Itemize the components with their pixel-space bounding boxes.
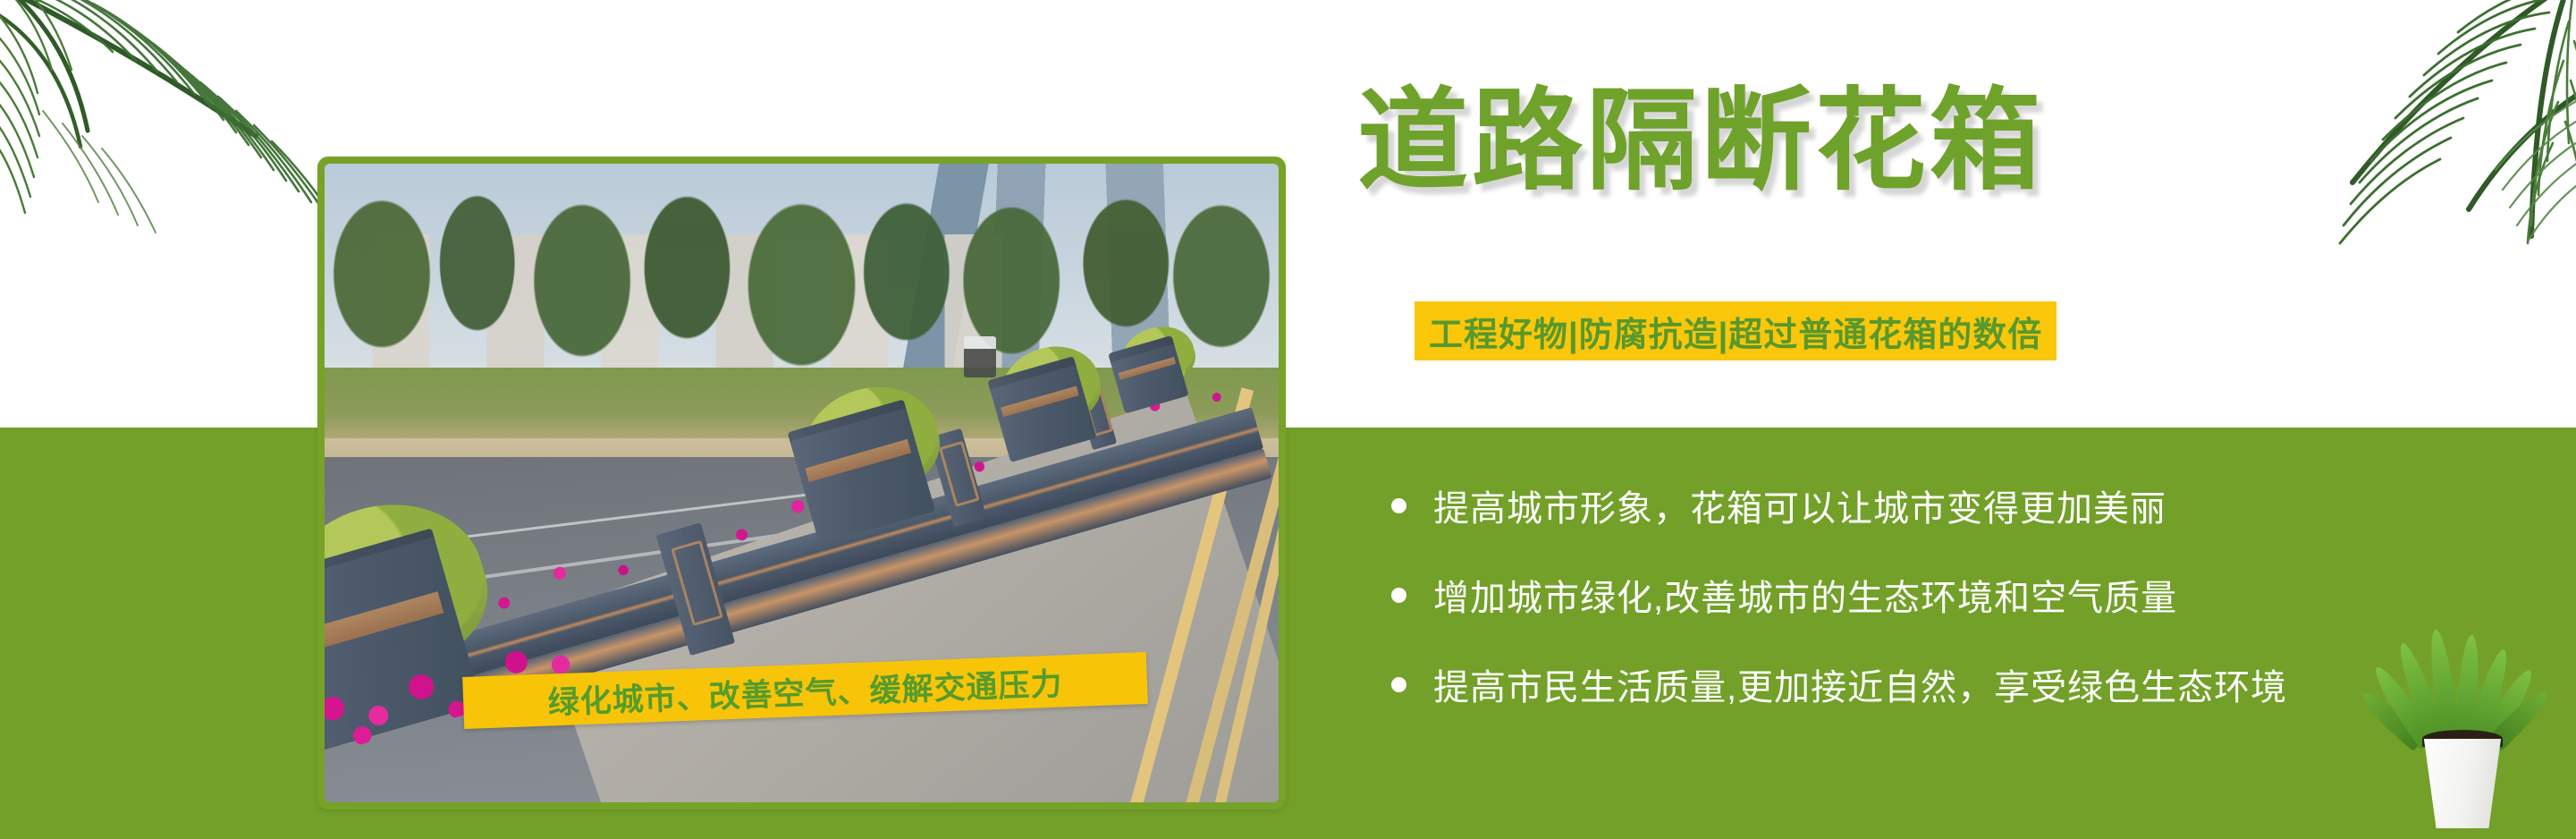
product-photo: 绿化城市、改善空气、缓解交通压力 bbox=[325, 164, 1279, 802]
list-item: 提高城市形象，花箱可以让城市变得更加美丽 bbox=[1391, 461, 2554, 550]
benefit-list: 提高城市形象，花箱可以让城市变得更加美丽 增加城市绿化,改善城市的生态环境和空气… bbox=[1391, 461, 2554, 729]
palm-leaf-icon bbox=[2174, 0, 2576, 245]
benefit-text: 提高市民生活质量,更加接近自然，享受绿色生态环境 bbox=[1433, 658, 2287, 710]
page-title: 道路隔断花箱 bbox=[1357, 82, 2044, 202]
bullet-dot-icon bbox=[1391, 588, 1406, 603]
promo-banner: 绿化城市、改善空气、缓解交通压力 道路隔断花箱 工程好物|防腐抗造|超过普通花箱… bbox=[0, 0, 2576, 839]
benefit-text: 提高城市形象，花箱可以让城市变得更加美丽 bbox=[1433, 479, 2166, 531]
list-item: 增加城市绿化,改善城市的生态环境和空气质量 bbox=[1391, 550, 2554, 640]
feature-badge-text: 工程好物|防腐抗造|超过普通花箱的数倍 bbox=[1429, 307, 2042, 356]
bullet-dot-icon bbox=[1391, 677, 1406, 692]
feature-badge: 工程好物|防腐抗造|超过普通花箱的数倍 bbox=[1415, 301, 2057, 360]
benefit-text: 增加城市绿化,改善城市的生态环境和空气质量 bbox=[1433, 569, 2177, 621]
product-photo-card: 绿化城市、改善空气、缓解交通压力 bbox=[317, 157, 1286, 809]
list-item: 提高市民生活质量,更加接近自然，享受绿色生态环境 bbox=[1391, 640, 2554, 729]
palm-leaf-icon bbox=[0, 0, 372, 234]
bullet-dot-icon bbox=[1391, 498, 1406, 513]
